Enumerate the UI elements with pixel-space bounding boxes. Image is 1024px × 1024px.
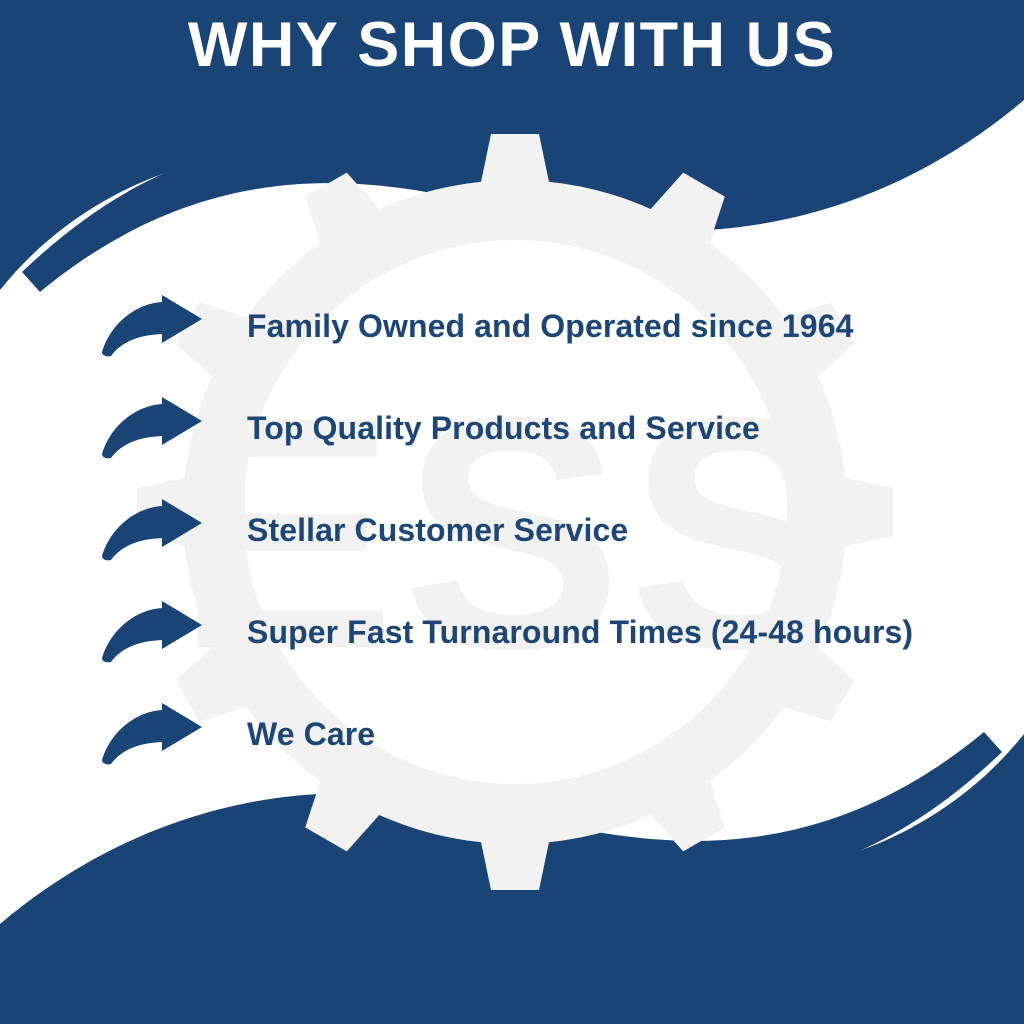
curved-arrow-right-icon	[100, 397, 204, 459]
benefit-label: Top Quality Products and Service	[247, 410, 760, 447]
benefit-label: Family Owned and Operated since 1964	[247, 308, 854, 345]
benefit-row: We Care	[100, 696, 980, 772]
curved-arrow-right-icon	[100, 601, 204, 663]
benefit-row: Super Fast Turnaround Times (24-48 hours…	[100, 594, 980, 670]
curved-arrow-right-icon	[100, 295, 204, 357]
benefit-row: Stellar Customer Service	[100, 492, 980, 568]
benefit-label: Super Fast Turnaround Times (24-48 hours…	[247, 614, 913, 651]
benefit-row: Family Owned and Operated since 1964	[100, 288, 980, 364]
benefits-list: Family Owned and Operated since 1964 Top…	[100, 288, 980, 772]
benefit-label: We Care	[247, 716, 375, 753]
curved-arrow-right-icon	[100, 703, 204, 765]
promo-banner: ESS WHY SHOP WITH US Family Owned and Op…	[0, 0, 1024, 1024]
benefit-row: Top Quality Products and Service	[100, 390, 980, 466]
curved-arrow-right-icon	[100, 499, 204, 561]
benefit-label: Stellar Customer Service	[247, 512, 628, 549]
